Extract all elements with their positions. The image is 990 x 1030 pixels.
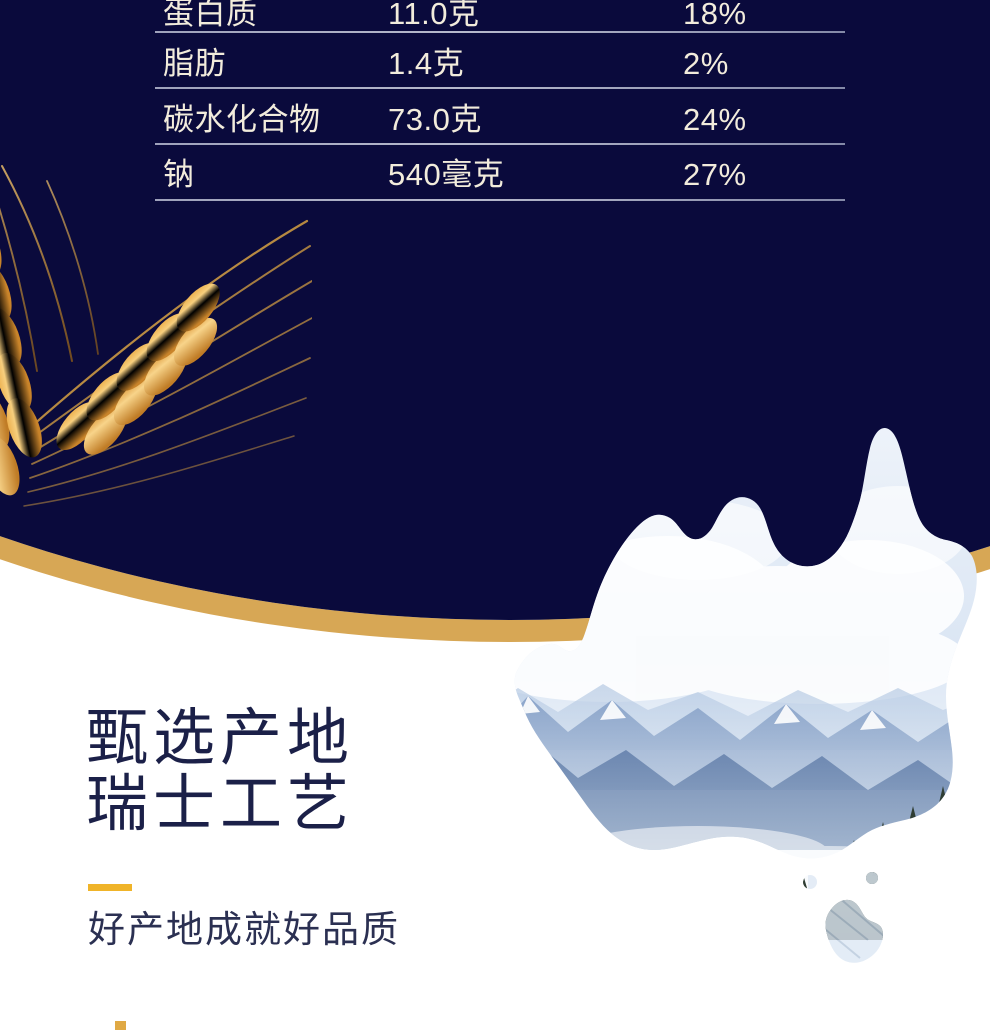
row-divider (155, 143, 845, 145)
table-row: 碳水化合物 73.0克 24% (0, 92, 990, 147)
nutrient-name: 钠 (163, 147, 195, 202)
table-row: 脂肪 1.4克 2% (0, 36, 990, 91)
australia-map-landscape (398, 420, 990, 1020)
nutrient-pct: 24% (683, 92, 747, 147)
nutrient-value: 540毫克 (388, 147, 504, 202)
gold-rule-accent-icon (88, 884, 132, 891)
table-row: 蛋白质 11.0克 18% (0, 0, 990, 41)
nutrition-facts-table: 蛋白质 11.0克 18% 脂肪 1.4克 2% 碳水化合物 73.0克 24%… (0, 0, 990, 212)
product-detail-page: 蛋白质 11.0克 18% 脂肪 1.4克 2% 碳水化合物 73.0克 24%… (0, 0, 990, 1030)
bottom-gold-tick-icon (115, 1021, 126, 1030)
nutrient-value: 73.0克 (388, 92, 482, 147)
nutrient-pct: 18% (683, 0, 747, 41)
hero-subtitle: 好产地成就好品质 (88, 905, 400, 955)
row-divider (155, 87, 845, 89)
headline-line-1: 甄选产地 (86, 706, 354, 772)
hero-headline: 甄选产地 瑞士工艺 (86, 706, 354, 838)
nutrient-name: 蛋白质 (163, 0, 258, 41)
nutrient-name: 脂肪 (163, 36, 226, 91)
nutrient-pct: 2% (683, 36, 729, 91)
table-row: 钠 540毫克 27% (0, 147, 990, 202)
nutrient-value: 11.0克 (388, 0, 480, 41)
headline-line-2: 瑞士工艺 (86, 772, 354, 838)
nutrient-value: 1.4克 (388, 36, 464, 91)
row-divider (155, 31, 845, 33)
nutrient-pct: 27% (683, 147, 747, 202)
row-divider (155, 199, 845, 201)
nutrient-name: 碳水化合物 (163, 92, 321, 147)
